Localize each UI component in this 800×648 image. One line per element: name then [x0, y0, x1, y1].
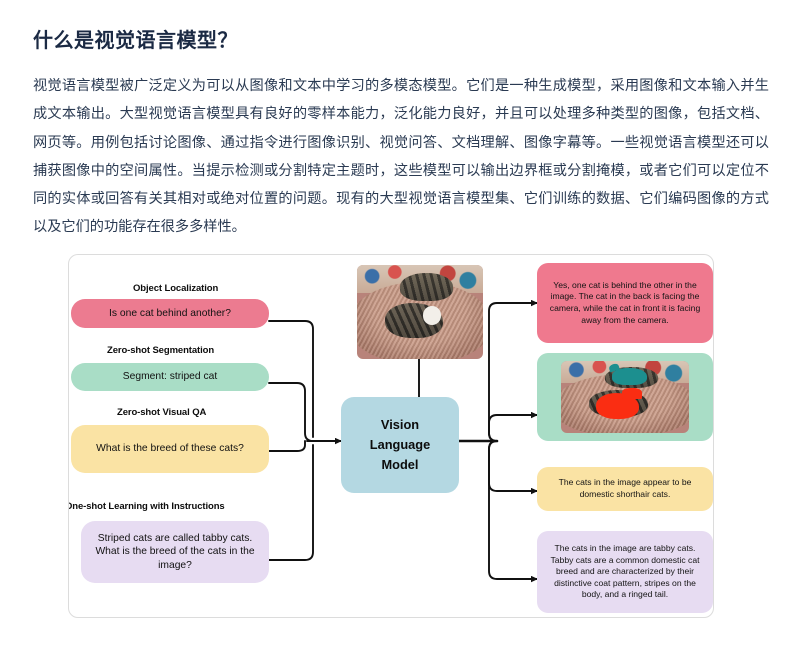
- output-visual-qa: The cats in the image appear to be domes…: [537, 467, 713, 511]
- diagram-canvas: Object Localization Is one cat behind an…: [69, 255, 713, 617]
- prompt-object-localization[interactable]: Is one cat behind another?: [71, 299, 269, 328]
- segmentation-mask-teal: [612, 368, 647, 385]
- output-one-shot-learning: The cats in the image are tabby cats. Ta…: [537, 531, 713, 613]
- task-label-zero-shot-segmentation: Zero-shot Segmentation: [107, 345, 214, 356]
- prompt-one-shot-learning[interactable]: Striped cats are called tabby cats. What…: [81, 521, 269, 583]
- task-label-one-shot-learning: One-shot Learning with Instructions: [68, 501, 225, 512]
- page-title: 什么是视觉语言模型？: [33, 24, 238, 53]
- output-object-localization: Yes, one cat is behind the other in the …: [537, 263, 713, 343]
- vlm-line-1: Vision: [381, 415, 419, 435]
- input-image: [357, 265, 483, 359]
- output-segmentation-image: [561, 361, 689, 433]
- task-label-zero-shot-visual-qa: Zero-shot Visual QA: [117, 407, 206, 418]
- article-paragraph: 视觉语言模型被广泛定义为可以从图像和文本中学习的多模态模型。它们是一种生成模型，…: [33, 72, 769, 241]
- vlm-line-3: Model: [382, 455, 419, 475]
- vlm-line-2: Language: [370, 435, 430, 455]
- vision-language-model-box[interactable]: Vision Language Model: [341, 397, 459, 493]
- vlm-diagram-figure: Object Localization Is one cat behind an…: [68, 254, 714, 618]
- segmentation-mask-red: [596, 393, 640, 419]
- photo-cat-back: [400, 273, 453, 301]
- prompt-zero-shot-visual-qa[interactable]: What is the breed of these cats?: [71, 425, 269, 473]
- task-label-object-localization: Object Localization: [133, 283, 218, 294]
- prompt-zero-shot-segmentation[interactable]: Segment: striped cat: [71, 363, 269, 391]
- output-segmentation-card: [537, 353, 713, 441]
